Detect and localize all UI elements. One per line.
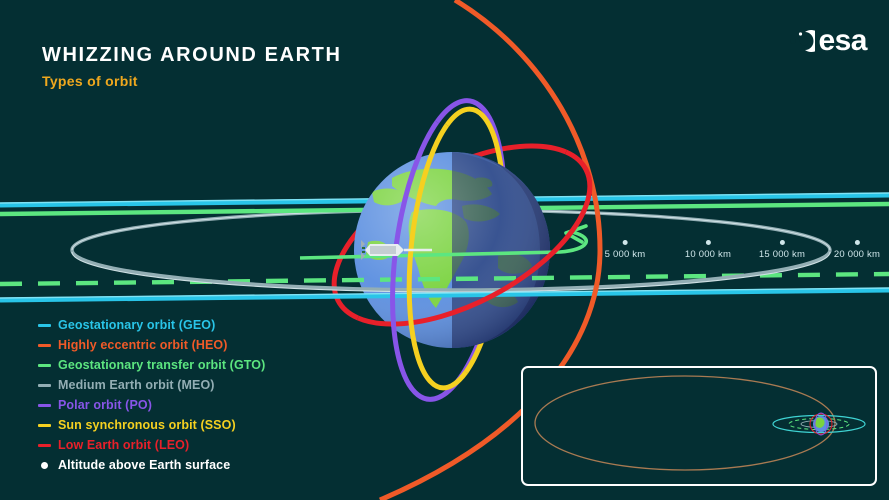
scale-marker-2: 10 000 km <box>685 240 731 260</box>
scale-marker-label: 15 000 km <box>759 249 805 260</box>
esa-wordmark: esa <box>818 26 867 56</box>
heo-overview-inset <box>521 366 877 486</box>
page-subtitle: Types of orbit <box>42 72 342 90</box>
orbit-legend: Geostationary orbit (GEO)Highly eccentri… <box>38 315 265 475</box>
legend-dash-icon <box>38 424 51 427</box>
legend-item-4[interactable]: Medium Earth orbit (MEO) <box>38 375 265 395</box>
scale-marker-label: 5 000 km <box>605 249 646 260</box>
scale-dot-icon <box>623 240 628 245</box>
scale-marker-3: 15 000 km <box>759 240 805 260</box>
inset-diagram <box>523 368 871 480</box>
legend-item-label: Sun synchronous orbit (SSO) <box>58 418 236 432</box>
legend-dot-icon <box>41 462 48 469</box>
legend-item-label: Geostationary transfer orbit (GTO) <box>58 358 265 372</box>
esa-globe-icon <box>781 24 815 58</box>
legend-item-2[interactable]: Highly eccentric orbit (HEO) <box>38 335 265 355</box>
legend-item-5[interactable]: Polar orbit (PO) <box>38 395 265 415</box>
legend-item-label: Low Earth orbit (LEO) <box>58 438 189 452</box>
scale-marker-label: 20 000 km <box>834 249 880 260</box>
legend-dash-icon <box>38 444 51 447</box>
legend-item-label: Geostationary orbit (GEO) <box>58 318 215 332</box>
scale-dot-icon <box>779 240 784 245</box>
header-block: WHIZZING AROUND EARTH Types of orbit <box>42 44 342 90</box>
legend-item-7[interactable]: Low Earth orbit (LEO) <box>38 435 265 455</box>
legend-dash-icon <box>38 324 51 327</box>
legend-dash-icon <box>38 404 51 407</box>
legend-item-8[interactable]: Altitude above Earth surface <box>38 455 265 475</box>
scale-marker-1: 5 000 km <box>605 240 646 260</box>
scale-dot-icon <box>854 240 859 245</box>
legend-dash-icon <box>38 364 51 367</box>
legend-dash-icon <box>38 384 51 387</box>
legend-item-label: Altitude above Earth surface <box>58 458 230 472</box>
legend-item-label: Polar orbit (PO) <box>58 398 152 412</box>
legend-item-6[interactable]: Sun synchronous orbit (SSO) <box>38 415 265 435</box>
legend-item-3[interactable]: Geostationary transfer orbit (GTO) <box>38 355 265 375</box>
scale-marker-4: 20 000 km <box>834 240 880 260</box>
page-title: WHIZZING AROUND EARTH <box>42 44 342 66</box>
legend-item-1[interactable]: Geostationary orbit (GEO) <box>38 315 265 335</box>
infographic-canvas: WHIZZING AROUND EARTH Types of orbit esa… <box>0 0 889 500</box>
scale-marker-label: 10 000 km <box>685 249 731 260</box>
legend-dash-icon <box>38 344 51 347</box>
legend-item-label: Highly eccentric orbit (HEO) <box>58 338 228 352</box>
legend-item-label: Medium Earth orbit (MEO) <box>58 378 215 392</box>
esa-logo: esa <box>781 24 867 58</box>
scale-dot-icon <box>705 240 710 245</box>
